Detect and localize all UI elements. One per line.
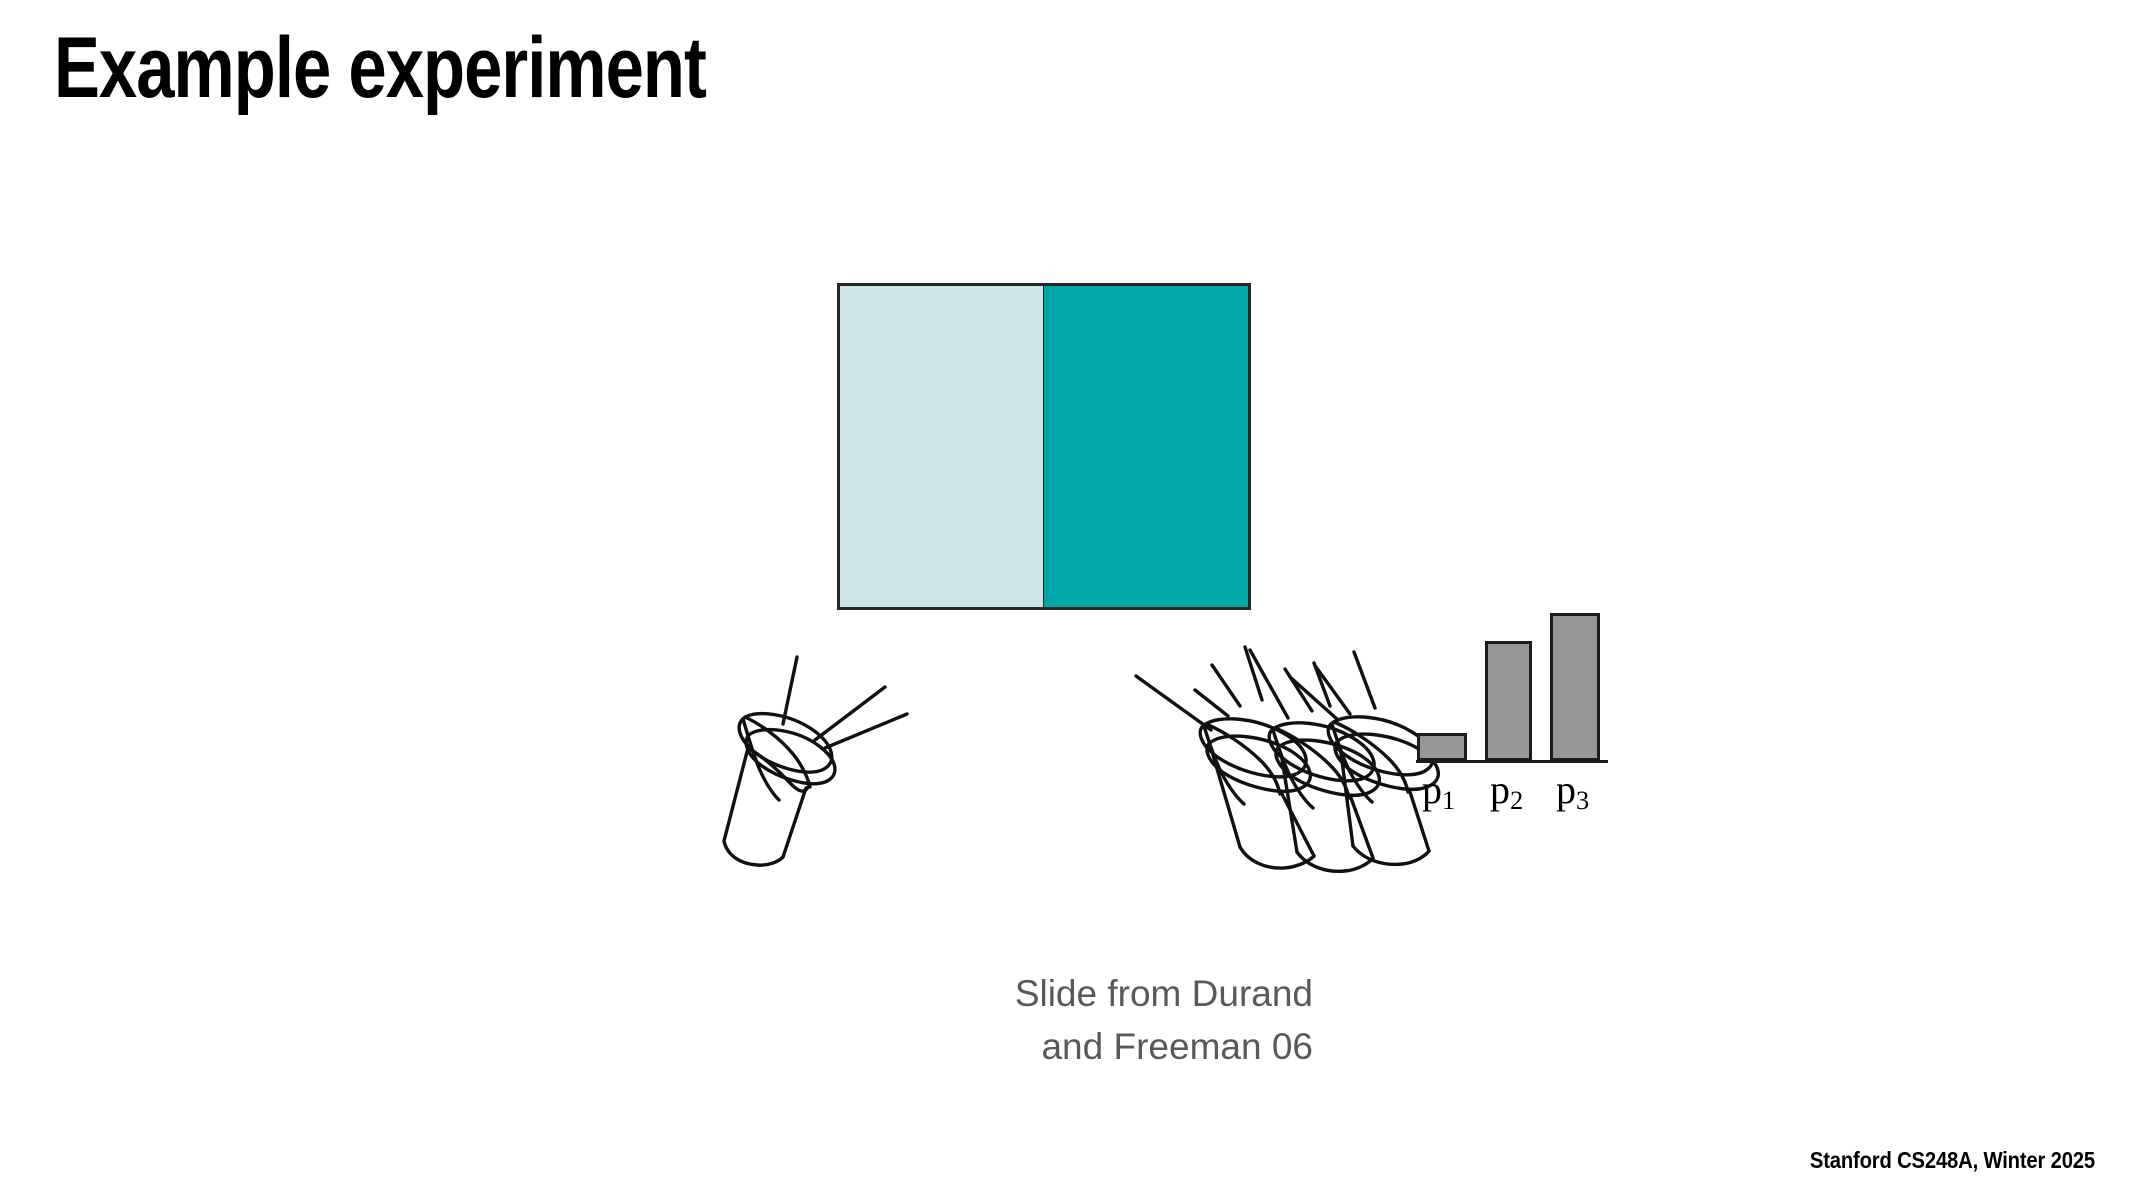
bar-label-p3-subscript: 3: [1576, 785, 1589, 815]
slide-canvas: Example experiment: [0, 0, 2133, 1200]
color-patch-right-half: [1044, 286, 1248, 607]
bar-chart-bars: [1408, 598, 1618, 764]
bar-p1: [1417, 733, 1467, 761]
bar-label-p1: p1: [1422, 766, 1455, 816]
attribution-line-2: and Freeman 06: [893, 1021, 1313, 1074]
color-patch-left-half: [840, 286, 1044, 607]
single-camera-icon: [724, 657, 907, 865]
slide-footer: Stanford CS248A, Winter 2025: [1810, 1147, 2095, 1174]
bar-p3: [1550, 613, 1600, 761]
color-patch: [837, 283, 1251, 610]
bar-label-p3-text: p: [1556, 767, 1576, 812]
bar-label-p2-subscript: 2: [1510, 785, 1523, 815]
bar-label-p2: p2: [1490, 766, 1523, 816]
bar-p2: [1485, 641, 1532, 761]
bar-label-p1-text: p: [1422, 767, 1442, 812]
camera-group-camera-a: [1136, 647, 1314, 868]
bar-chart-baseline: [1416, 760, 1608, 763]
bar-chart-labels: p1 p2 p3: [1408, 766, 1618, 826]
bar-label-p3: p3: [1556, 766, 1589, 816]
camera-group-camera-b: [1250, 650, 1379, 871]
bar-label-p1-subscript: 1: [1442, 785, 1455, 815]
bar-chart: p1 p2 p3: [1408, 598, 1618, 830]
bar-label-p2-text: p: [1490, 767, 1510, 812]
attribution-line-1: Slide from Durand: [893, 968, 1313, 1021]
attribution: Slide from Durand and Freeman 06: [893, 968, 1313, 1073]
page-title: Example experiment: [54, 22, 706, 115]
